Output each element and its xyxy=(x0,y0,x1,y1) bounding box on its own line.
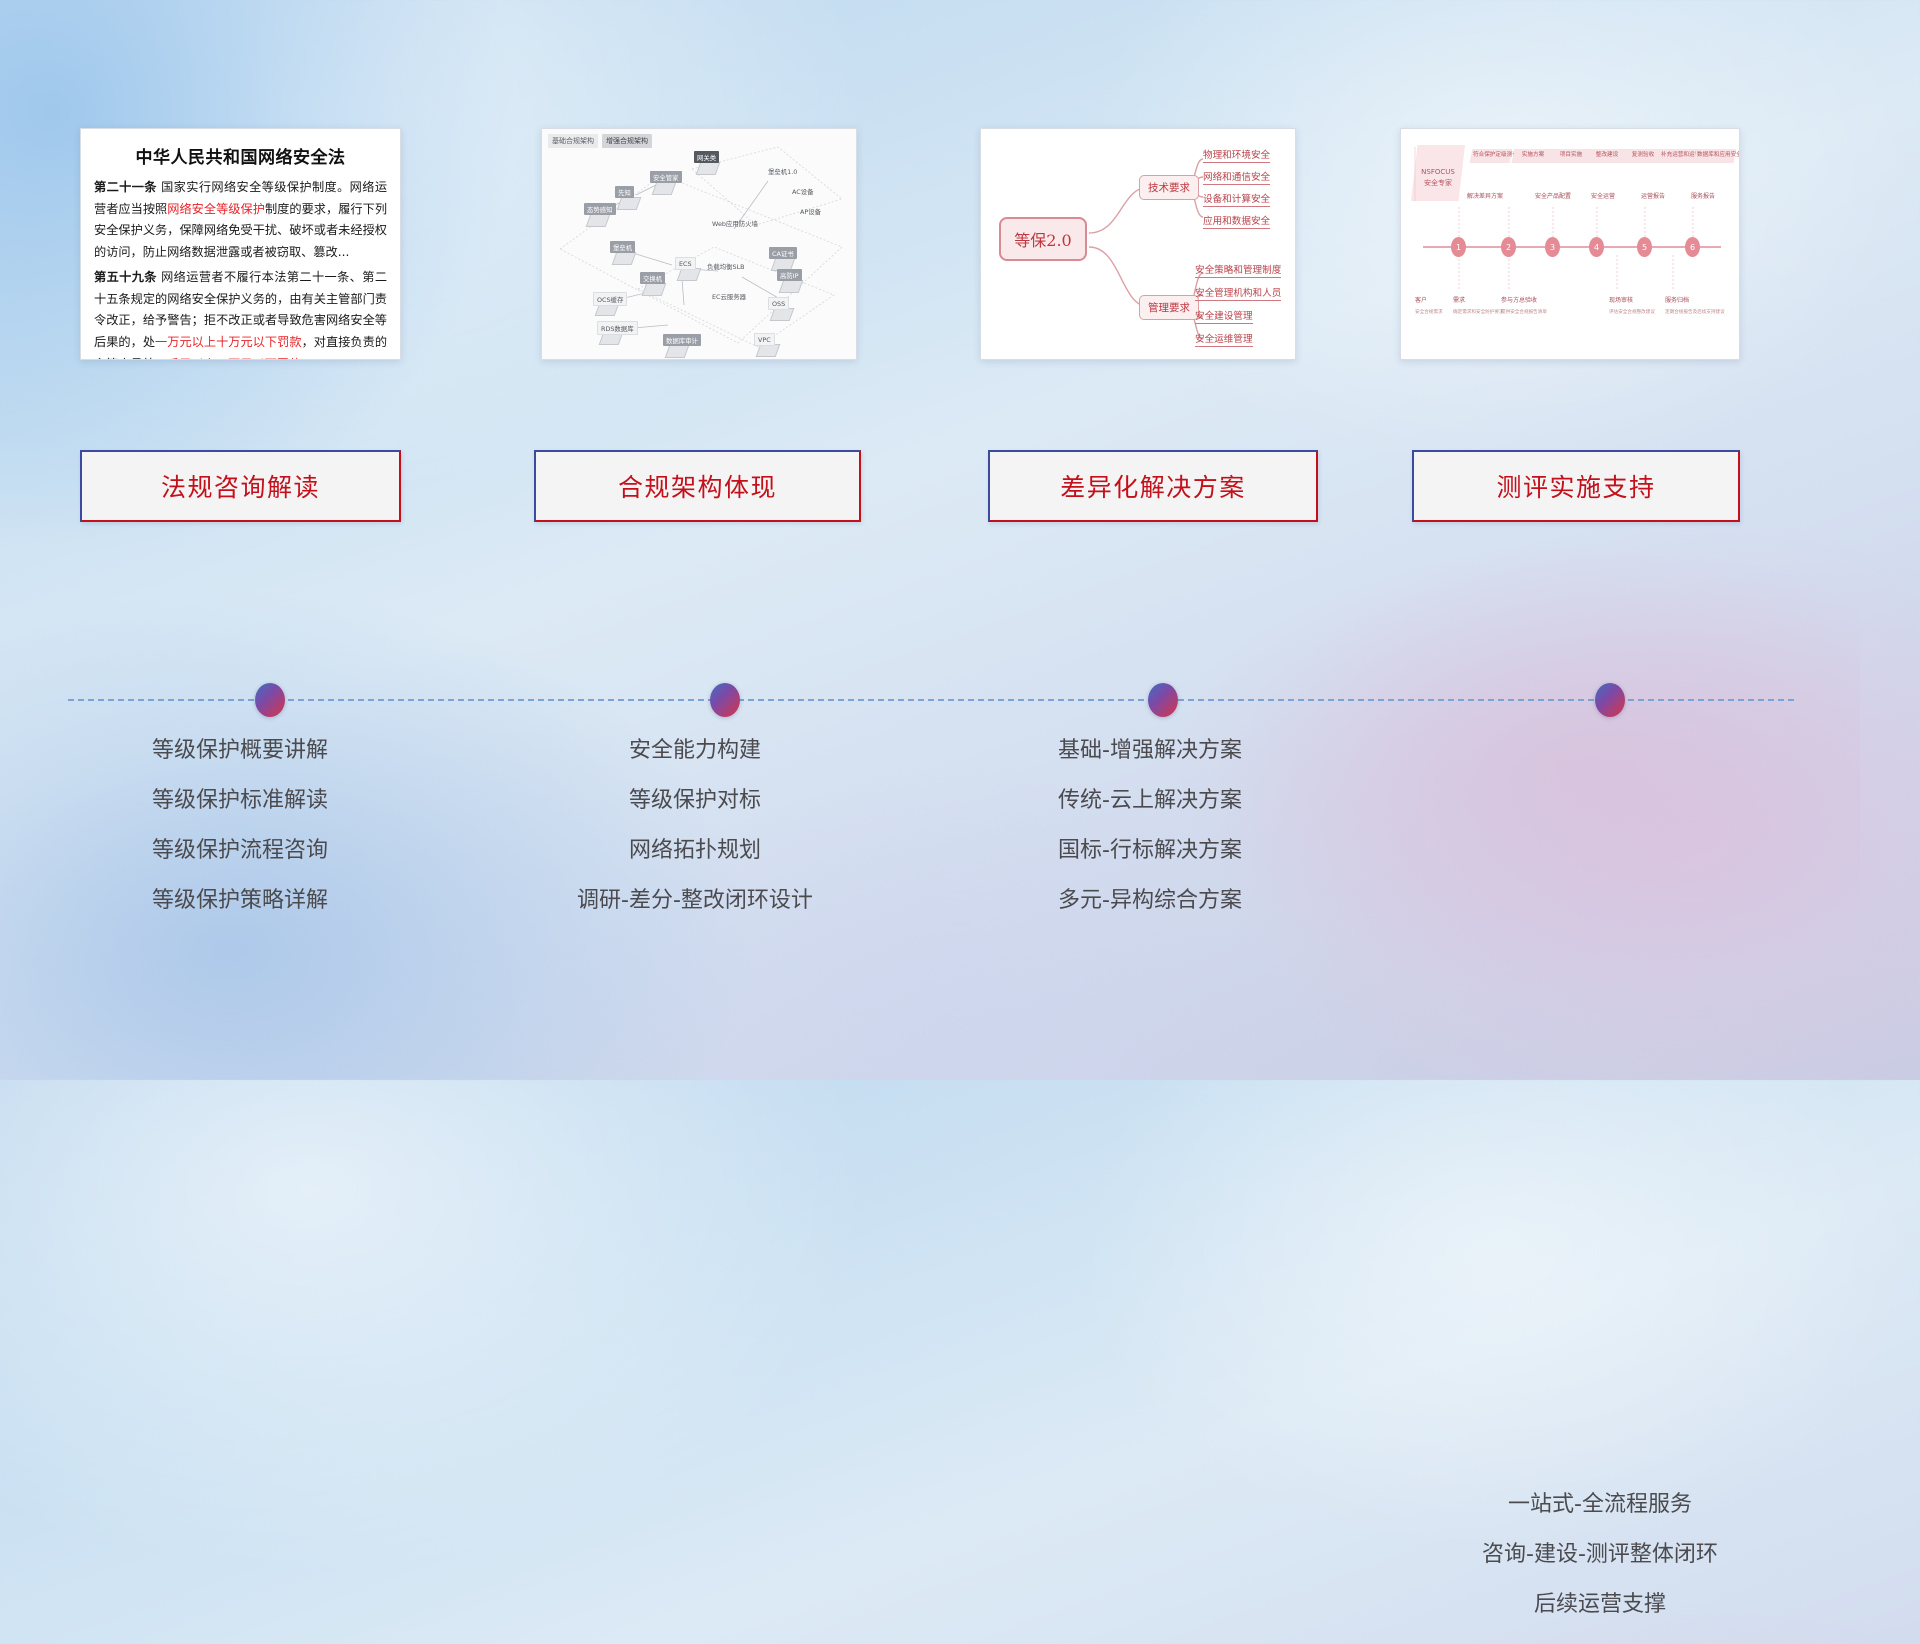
timeline-dot-1 xyxy=(255,683,285,717)
label-box-compliance-architecture[interactable]: 合规架构体现 xyxy=(534,450,861,522)
service-step-node: 1 xyxy=(1451,237,1466,257)
architecture-node-label: VPC xyxy=(754,333,775,346)
label-box-differentiated-solution[interactable]: 差异化解决方案 xyxy=(988,450,1318,522)
service-step-node: 2 xyxy=(1501,237,1516,257)
timeline xyxy=(0,680,1920,720)
architecture-node-label: 负载均衡SLB xyxy=(707,262,745,271)
label-box-evaluation-support[interactable]: 测评实施支持 xyxy=(1412,450,1740,522)
law-seg-highlight: 五千元以上五万元以下罚款。 xyxy=(155,357,313,360)
timeline-dot-4 xyxy=(1595,683,1625,717)
labels-row: 法规咨询解读 合规架构体现 差异化解决方案 测评实施支持 xyxy=(0,450,1920,530)
law-seg-highlight: 一万元以上十万元以下罚款 xyxy=(155,335,302,349)
mindmap-leaf: 安全建设管理 xyxy=(1195,308,1253,324)
architecture-node-label: OCS缓存 xyxy=(593,292,627,306)
mindmap: 等保2.0 技术要求 管理要求 物理和环境安全 网络和通信安全 设备和计算安全 … xyxy=(981,129,1295,359)
service-top-chip: 实施方案 xyxy=(1512,149,1555,163)
cards-row: 中华人民共和国网络安全法 第二十一条 国家实行网络安全等级保护制度。网络运营者应… xyxy=(0,128,1920,360)
service-phase-label: 安全产品配置 xyxy=(1535,191,1571,200)
law-paragraph: 第二十一条 国家实行网络安全等级保护制度。网络运营者应当按照网络安全等级保护制度… xyxy=(94,177,387,264)
law-article-number: 第二十一条 xyxy=(94,180,157,194)
service-step-node: 4 xyxy=(1589,237,1604,257)
service-top-chip: 数据库和应用安全运维保障 xyxy=(1694,149,1737,163)
service-step-node: 5 xyxy=(1637,237,1652,257)
service-step-node: 6 xyxy=(1685,237,1700,257)
card-service-timeline[interactable]: NSFOCUS 安全专家 xyxy=(1400,128,1740,360)
column-item: 等级保护概要讲解 xyxy=(50,740,430,762)
architecture-node-label: AC设备 xyxy=(792,187,814,196)
architecture-node-label: 先知 xyxy=(615,186,634,198)
architecture-node-label: 高防IP xyxy=(777,269,802,281)
architecture-node-label: AP设备 xyxy=(800,207,821,216)
column-item: 等级保护对标 xyxy=(500,790,890,812)
law-article-number: 第五十九条 xyxy=(94,270,157,284)
timeline-dot-2 xyxy=(710,683,740,717)
column-item: 传统-云上解决方案 xyxy=(950,790,1350,812)
service-phase-label: 安全运营 xyxy=(1591,191,1615,200)
service-bottom-label: 现场审核 xyxy=(1609,295,1633,304)
card-cybersecurity-law[interactable]: 中华人民共和国网络安全法 第二十一条 国家实行网络安全等级保护制度。网络运营者应… xyxy=(80,128,401,360)
law-seg-highlight: 网络安全等级保护 xyxy=(167,202,265,216)
column-compliance-architecture: 安全能力构建等级保护对标网络拓扑规划调研-差分-整改闭环设计 xyxy=(500,740,890,940)
architecture-node-label: 网关类 xyxy=(694,151,719,163)
service-bottom-sublabel: 提供安全合规报告清单 xyxy=(1501,309,1547,315)
column-item: 等级保护流程咨询 xyxy=(50,840,430,862)
label-text: 法规咨询解读 xyxy=(161,468,320,504)
service-bottom-label: 需求 xyxy=(1453,295,1465,304)
law-title: 中华人民共和国网络安全法 xyxy=(81,143,400,168)
mindmap-leaf: 设备和计算安全 xyxy=(1203,191,1270,207)
mindmap-leaf: 安全运维管理 xyxy=(1195,331,1253,347)
card-dengbao-mindmap[interactable]: 等保2.0 技术要求 管理要求 物理和环境安全 网络和通信安全 设备和计算安全 … xyxy=(980,128,1296,360)
column-item: 网络拓扑规划 xyxy=(500,840,890,862)
architecture-node-label: 交换机 xyxy=(640,272,665,284)
service-bottom-sublabel: 确定需求和安全防护要求 xyxy=(1453,309,1504,315)
column-item: 基础-增强解决方案 xyxy=(950,740,1350,762)
architecture-node-label: 堡垒机1.0 xyxy=(768,167,797,176)
service-top-chip: 符合保护定级测评机构 xyxy=(1470,149,1513,163)
mindmap-leaf: 安全管理机构和人员 xyxy=(1195,285,1281,301)
timeline-dashed-line xyxy=(68,699,1794,701)
service-bottom-sublabel: 定期合规报告及后续支持建议 xyxy=(1665,309,1725,315)
mindmap-branch-technical: 技术要求 xyxy=(1139,175,1199,200)
law-body: 第二十一条 国家实行网络安全等级保护制度。网络运营者应当按照网络安全等级保护制度… xyxy=(81,168,400,360)
label-text: 合规架构体现 xyxy=(618,468,777,504)
service-bottom-sublabel: 评估安全合规整改建议 xyxy=(1609,309,1655,315)
mindmap-leaf: 安全策略和管理制度 xyxy=(1195,262,1281,278)
column-item: 咨询-建设-测评整体闭环 xyxy=(1400,1544,1800,1566)
service-diagram: NSFOCUS 安全专家 xyxy=(1401,129,1739,359)
column-item: 后续运营支撑 xyxy=(1400,1594,1800,1616)
label-text: 差异化解决方案 xyxy=(1060,468,1246,504)
timeline-dot-3 xyxy=(1148,683,1178,717)
mindmap-leaf: 网络和通信安全 xyxy=(1203,169,1270,185)
law-paragraph: 第五十九条 网络运营者不履行本法第二十一条、第二十五条规定的网络安全保护义务的，… xyxy=(94,267,387,360)
architecture-node-label: 数据库审计 xyxy=(663,334,701,346)
column-differentiated-solution: 基础-增强解决方案传统-云上解决方案国标-行标解决方案多元-异构综合方案 xyxy=(950,740,1350,940)
architecture-node-label: ECS xyxy=(675,257,696,270)
architecture-node-label: 安全管家 xyxy=(650,171,682,183)
service-bottom-label: 参与方总验收 xyxy=(1501,295,1537,304)
architecture-node-label: RDS数据库 xyxy=(597,321,638,335)
label-box-regulation-consulting[interactable]: 法规咨询解读 xyxy=(80,450,401,522)
column-evaluation-support: 一站式-全流程服务咨询-建设-测评整体闭环后续运营支撑 xyxy=(1400,1494,1800,1644)
column-item: 等级保护标准解读 xyxy=(50,790,430,812)
column-item: 等级保护策略详解 xyxy=(50,890,430,912)
column-item: 国标-行标解决方案 xyxy=(950,840,1350,862)
service-step-node: 3 xyxy=(1545,237,1560,257)
architecture-diagram: 基础合规架构 增强合规架构 xyxy=(542,129,856,359)
architecture-node-label: Web应用防火墙 xyxy=(712,219,758,228)
service-bottom-label: 客户 xyxy=(1415,295,1427,304)
mindmap-root-node: 等保2.0 xyxy=(999,217,1087,261)
architecture-node-label: 堡垒机 xyxy=(610,241,635,253)
mindmap-leaf: 应用和数据安全 xyxy=(1203,213,1270,229)
column-item: 多元-异构综合方案 xyxy=(950,890,1350,912)
bottom-columns: 等级保护概要讲解等级保护标准解读等级保护流程咨询等级保护策略详解 安全能力构建等… xyxy=(0,740,1920,980)
architecture-node-label: CA证书 xyxy=(769,247,797,259)
mindmap-branch-management: 管理要求 xyxy=(1139,295,1199,320)
column-item: 一站式-全流程服务 xyxy=(1400,1494,1800,1516)
card-compliance-architecture[interactable]: 基础合规架构 增强合规架构 xyxy=(541,128,857,360)
column-item: 安全能力构建 xyxy=(500,740,890,762)
label-text: 测评实施支持 xyxy=(1496,468,1655,504)
service-phase-label: 服务报告 xyxy=(1691,191,1715,200)
service-bottom-sublabel: 安全合规需求 xyxy=(1415,309,1443,315)
service-phase-label: 解决差异方案 xyxy=(1467,191,1503,200)
service-bottom-label: 服务归档 xyxy=(1665,295,1689,304)
architecture-node-label: 态势感知 xyxy=(584,203,616,215)
service-phase-label: 运营报告 xyxy=(1641,191,1665,200)
mindmap-leaf: 物理和环境安全 xyxy=(1203,147,1270,163)
architecture-node-label: EC云服务器 xyxy=(712,292,746,301)
column-item: 调研-差分-整改闭环设计 xyxy=(500,890,890,912)
column-regulation-consulting: 等级保护概要讲解等级保护标准解读等级保护流程咨询等级保护策略详解 xyxy=(50,740,430,940)
architecture-node-label: OSS xyxy=(768,297,789,310)
